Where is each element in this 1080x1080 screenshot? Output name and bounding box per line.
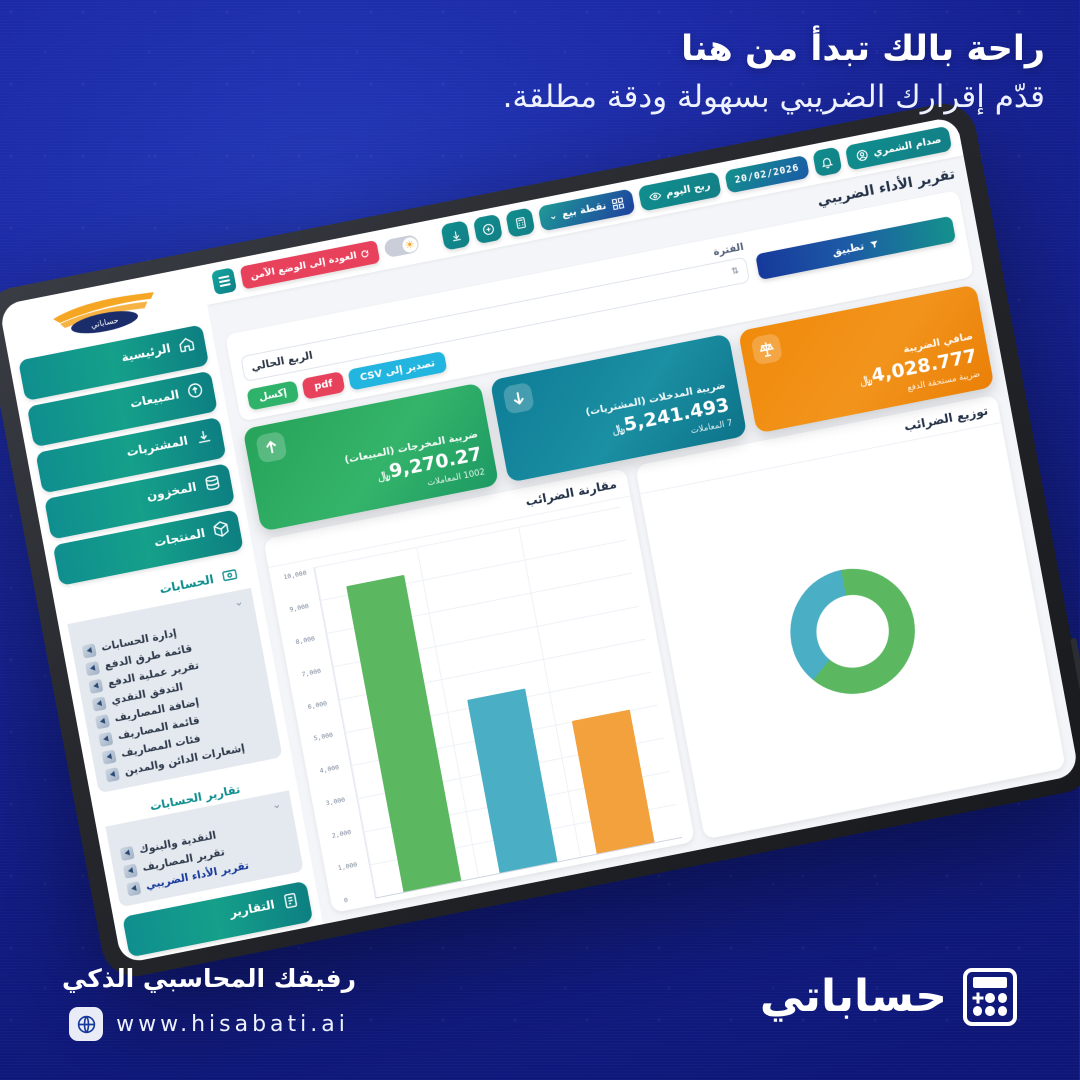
menu-icon xyxy=(219,275,230,279)
bullet-icon xyxy=(106,767,121,782)
bell-icon xyxy=(821,154,836,169)
tax-distribution-chart-card: توزيع الضرائب xyxy=(636,394,1067,839)
bar-1[interactable] xyxy=(468,688,558,873)
database-icon xyxy=(204,473,224,493)
y-tick: 2,000 xyxy=(332,826,364,840)
bullet-icon xyxy=(83,643,98,658)
brand-name: حساباتي xyxy=(761,975,948,1019)
y-tick: 8,000 xyxy=(296,632,328,646)
safe-mode-label: العودة إلى الوضع الآمن xyxy=(251,250,359,282)
donut-ring xyxy=(781,558,927,705)
donut-chart xyxy=(641,423,1067,840)
download-button[interactable] xyxy=(442,220,472,251)
bar-series xyxy=(315,507,682,898)
y-tick: 9,000 xyxy=(290,600,322,614)
tagline-block: رفيقك المحاسبي الذكي www.hisabati.ai xyxy=(0,964,420,1041)
box-icon xyxy=(212,519,232,539)
theme-toggle[interactable] xyxy=(384,234,421,258)
kpi-badge xyxy=(504,382,537,415)
bar-chart-body: 10,000 9,000 8,000 7,000 6,000 5,000 4,0… xyxy=(270,496,696,913)
bar-chart: 10,000 9,000 8,000 7,000 6,000 5,000 4,0… xyxy=(281,507,683,906)
y-tick: 6,000 xyxy=(308,697,340,711)
brand-lockup: حساباتي xyxy=(718,968,1018,1026)
kpi-badge xyxy=(256,431,289,464)
download-icon xyxy=(449,228,464,243)
arrow-down-icon xyxy=(509,388,530,409)
bar-2[interactable] xyxy=(573,709,656,854)
bullet-icon xyxy=(127,881,142,896)
tagline-text: رفيقك المحاسبي الذكي xyxy=(0,964,420,994)
user-name: صدام الشمري xyxy=(873,134,943,158)
sales-up-icon xyxy=(186,380,206,400)
eye-icon xyxy=(648,188,663,203)
period-value: الربع الحالي xyxy=(251,350,314,374)
y-tick: 10,000 xyxy=(284,567,316,581)
notifications-button[interactable] xyxy=(813,147,843,178)
y-tick: 4,000 xyxy=(320,761,352,775)
chevron-left-icon: ‹ xyxy=(139,951,146,964)
reports-icon xyxy=(282,891,302,911)
apply-label: تطبيق xyxy=(832,240,866,258)
currency-symbol: ﷼ xyxy=(860,372,874,387)
y-tick: 7,000 xyxy=(302,664,334,678)
currency-symbol: ﷼ xyxy=(378,468,392,483)
bullet-icon xyxy=(93,696,108,711)
promo-headline-block: راحة بالك تبدأ من هنا قدّم إقرارك الضريب… xyxy=(346,28,1046,119)
refresh-icon xyxy=(361,248,371,259)
chevron-updown-icon: ⇅ xyxy=(732,267,741,277)
sidebar-item-label: التقارير xyxy=(135,897,277,938)
purchase-down-icon xyxy=(195,427,215,447)
chevron-down-icon: ⌄ xyxy=(549,210,559,222)
promo-subheadline: قدّم إقرارك الضريبي بسهولة ودقة مطلقة. xyxy=(346,77,1046,119)
main-area: العودة إلى الوضع الآمن نقط xyxy=(201,116,1080,924)
website-url: www.hisabati.ai xyxy=(117,1012,350,1037)
add-circle-icon xyxy=(482,221,497,236)
money-icon xyxy=(221,565,241,585)
bullet-icon xyxy=(120,845,135,860)
bullet-icon xyxy=(124,863,139,878)
pos-label: نقطة بيع xyxy=(562,200,608,220)
y-tick: 5,000 xyxy=(314,729,346,743)
tax-comparison-chart-card: مقارنة الضرائب 10,000 9,000 8,000 7,000 … xyxy=(264,468,695,913)
calculator-button[interactable] xyxy=(506,207,536,238)
export-pdf-button[interactable]: pdf xyxy=(303,371,347,400)
bullet-icon xyxy=(99,731,114,746)
filter-icon xyxy=(869,238,881,250)
y-tick: 0 xyxy=(344,891,376,905)
donut-chart-body xyxy=(641,423,1067,840)
calculator-icon xyxy=(964,968,1018,1026)
bullet-icon xyxy=(102,749,117,764)
grid-icon xyxy=(611,196,626,211)
bar-plot-area xyxy=(314,507,683,899)
calculator-icon xyxy=(514,215,529,230)
bullet-icon xyxy=(86,661,101,676)
bullet-icon xyxy=(96,714,111,729)
add-button[interactable] xyxy=(474,214,504,245)
y-tick: 1,000 xyxy=(338,858,370,872)
scale-icon xyxy=(757,339,778,360)
user-circle-icon xyxy=(855,147,870,162)
accounts-submenu: ⌄ إدارة الحسابات قائمة طرق الدفع تقرير ع… xyxy=(68,588,283,793)
profit-today-label: ربح اليوم xyxy=(666,180,712,200)
home-icon xyxy=(178,334,198,354)
globe-icon xyxy=(70,1007,104,1041)
currency-symbol: ﷼ xyxy=(612,421,626,436)
kpi-badge xyxy=(751,333,784,366)
export-excel-button[interactable]: إكسل xyxy=(247,380,300,410)
website-row[interactable]: www.hisabati.ai xyxy=(0,1007,420,1041)
page-title: راحة بالك تبدأ من هنا xyxy=(346,28,1046,72)
y-tick: 3,000 xyxy=(326,794,358,808)
menu-toggle-button[interactable] xyxy=(212,267,238,295)
bullet-icon xyxy=(89,678,104,693)
sun-icon xyxy=(402,236,419,254)
arrow-up-icon xyxy=(262,437,283,458)
promo-footer: رفيقك المحاسبي الذكي www.hisabati.ai حسا… xyxy=(0,964,1080,1054)
